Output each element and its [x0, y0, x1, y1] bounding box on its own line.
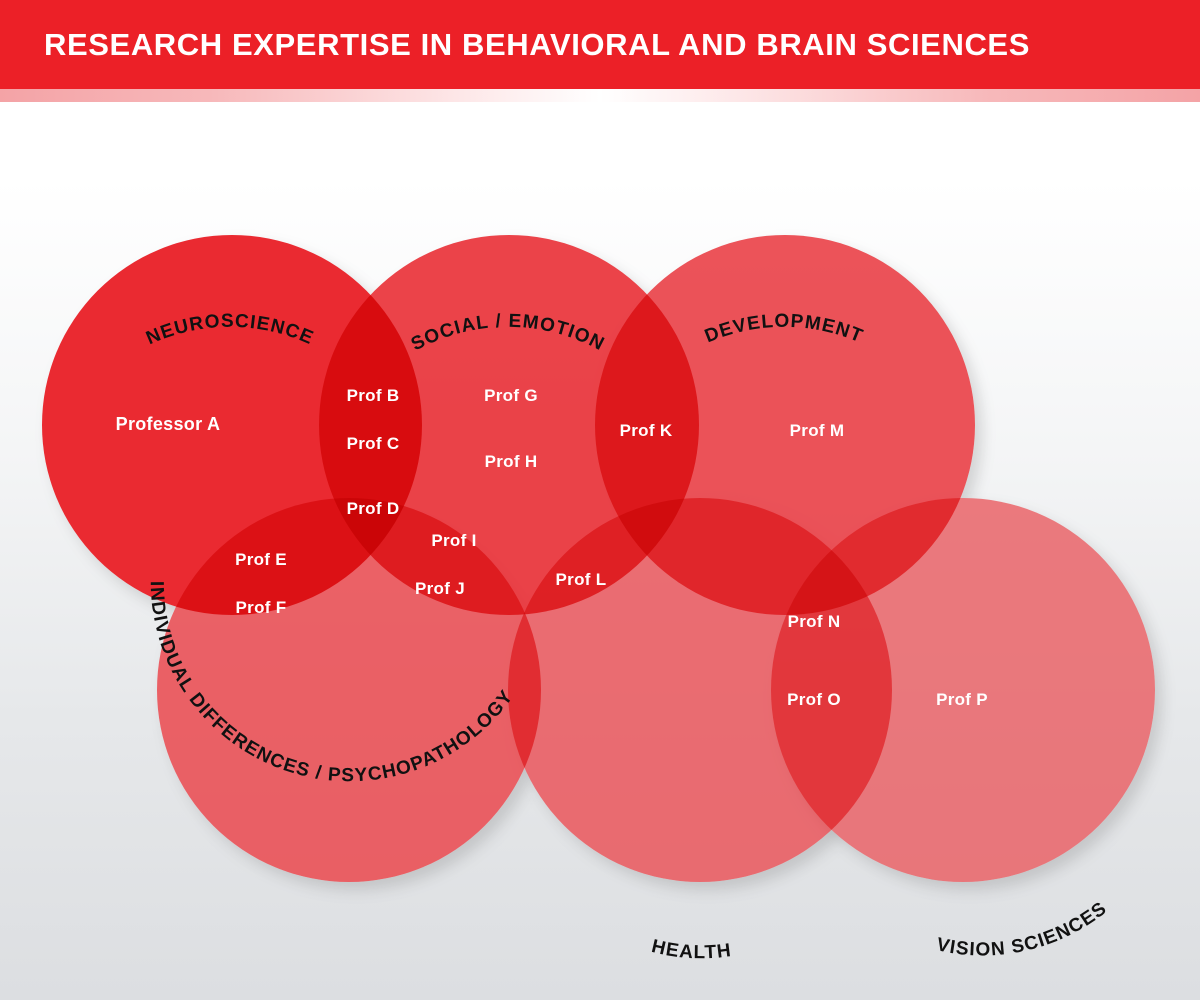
venn-diagram: NEUROSCIENCE SOCIAL / EMOTION DEVELOPMEN…	[0, 102, 1200, 1000]
category-label-vision-sciences: VISION SCIENCES	[935, 898, 1112, 961]
member-label-p[interactable]: Prof P	[936, 690, 988, 709]
member-label-e[interactable]: Prof E	[235, 550, 287, 569]
member-label-k[interactable]: Prof K	[620, 421, 673, 440]
page-title: RESEARCH EXPERTISE IN BEHAVIORAL AND BRA…	[44, 27, 1030, 63]
header-bar: RESEARCH EXPERTISE IN BEHAVIORAL AND BRA…	[0, 0, 1200, 89]
member-label-f[interactable]: Prof F	[236, 598, 287, 617]
poster-page: RESEARCH EXPERTISE IN BEHAVIORAL AND BRA…	[0, 0, 1200, 1000]
venn-circle-neuroscience[interactable]	[42, 235, 422, 615]
member-label-c[interactable]: Prof C	[347, 434, 400, 453]
member-label-j[interactable]: Prof J	[415, 579, 465, 598]
member-label-o[interactable]: Prof O	[787, 690, 841, 709]
member-label-b[interactable]: Prof B	[347, 386, 400, 405]
header-gradient-divider	[0, 89, 1200, 102]
member-label-i[interactable]: Prof I	[431, 531, 476, 550]
member-label-g[interactable]: Prof G	[484, 386, 538, 405]
member-label-a[interactable]: Professor A	[116, 414, 221, 434]
member-label-l[interactable]: Prof L	[556, 570, 607, 589]
member-label-m[interactable]: Prof M	[790, 421, 845, 440]
member-label-n[interactable]: Prof N	[788, 612, 841, 631]
member-label-h[interactable]: Prof H	[485, 452, 538, 471]
member-label-d[interactable]: Prof D	[347, 499, 400, 518]
category-label-health: HEALTH	[650, 936, 733, 963]
